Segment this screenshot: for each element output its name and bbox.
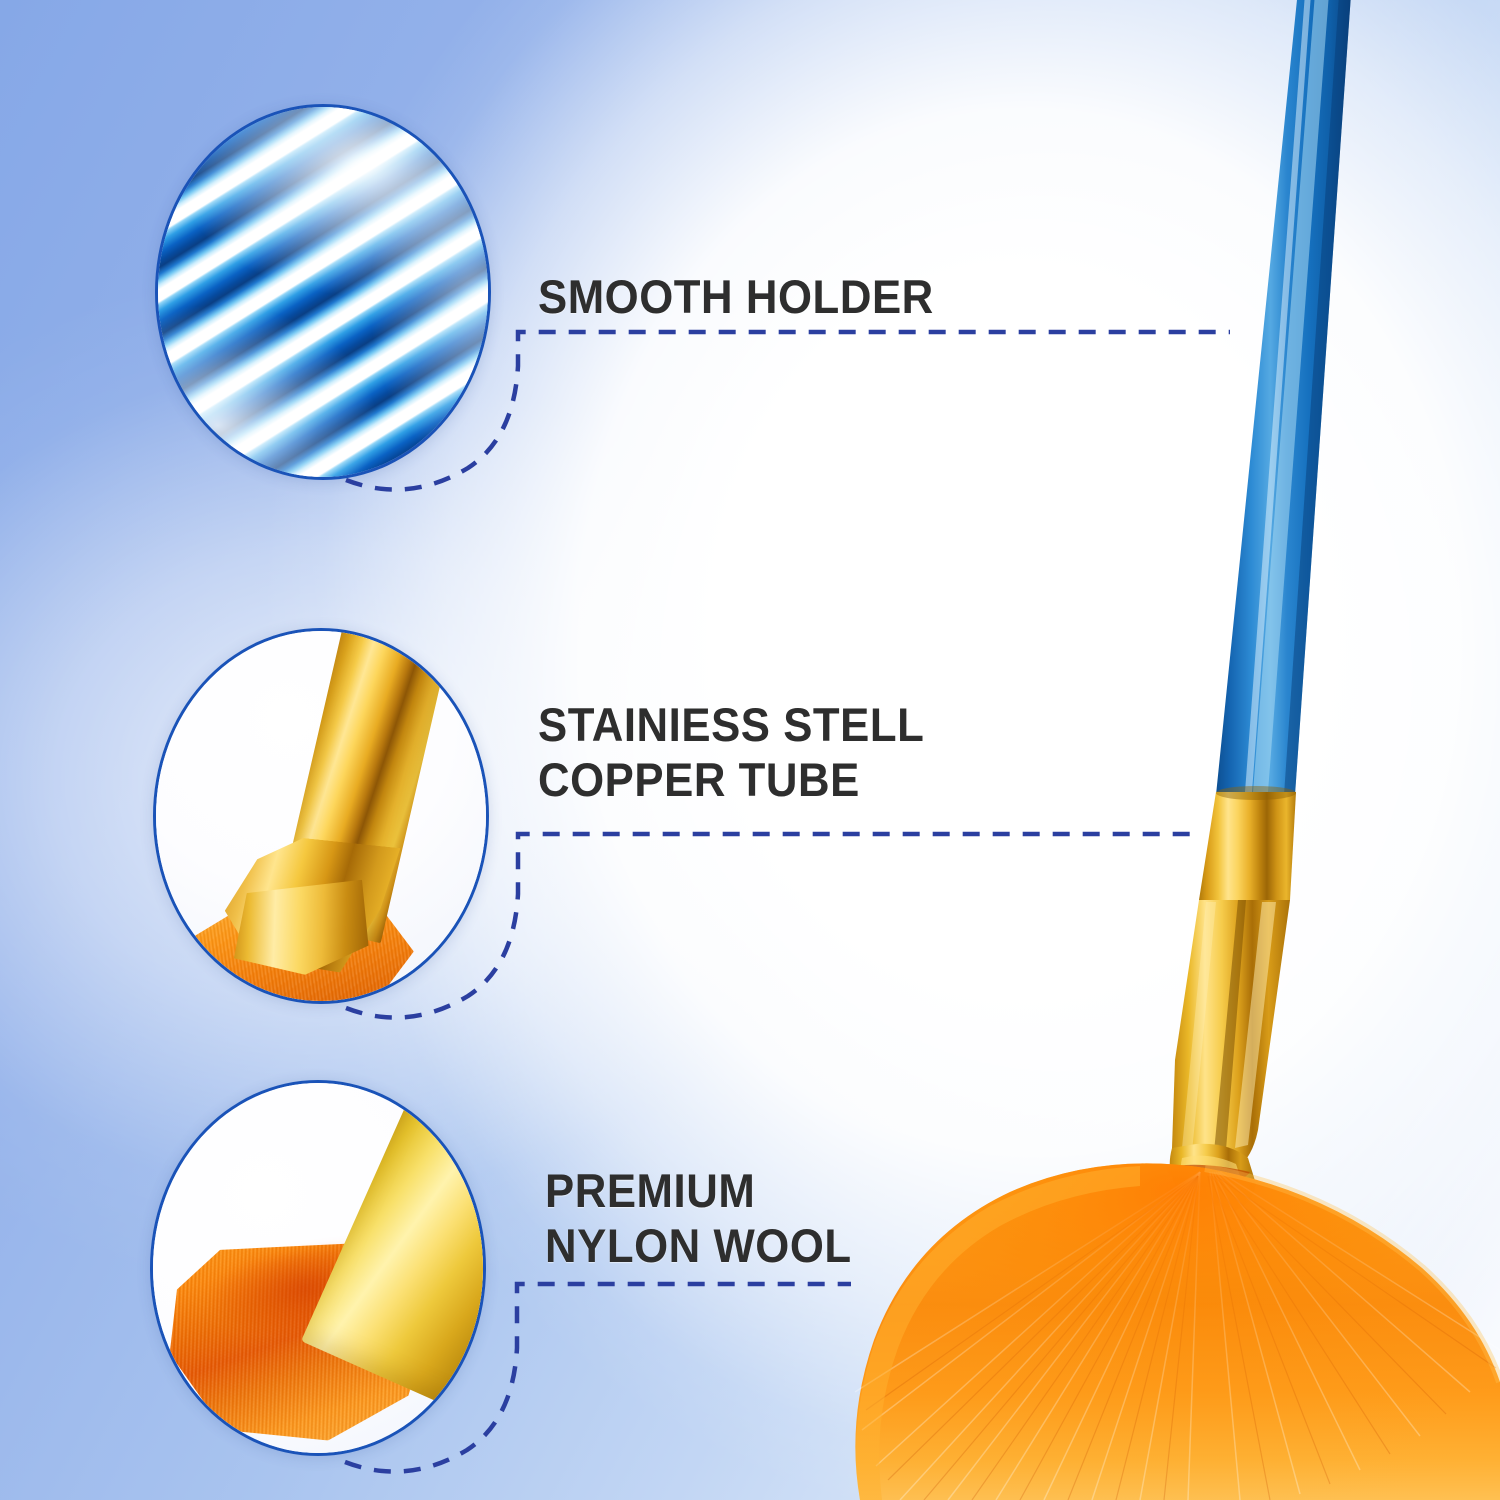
feature-label-nylon-wool: PREMIUM NYLON WOOL	[545, 1164, 852, 1274]
feature-label-smooth-holder: SMOOTH HOLDER	[538, 270, 934, 325]
connector-line-nylon-wool	[145, 1076, 905, 1500]
ferrule-top-rim	[1216, 786, 1296, 800]
brush-fan-bristles	[855, 1163, 1500, 1500]
feature-label-copper-tube: STAINIESS STELL COPPER TUBE	[538, 698, 924, 808]
infographic-canvas: SMOOTH HOLDER STAINIESS STELL COPPER TUB…	[0, 0, 1500, 1500]
connector-line-copper-tube	[148, 624, 1228, 1054]
